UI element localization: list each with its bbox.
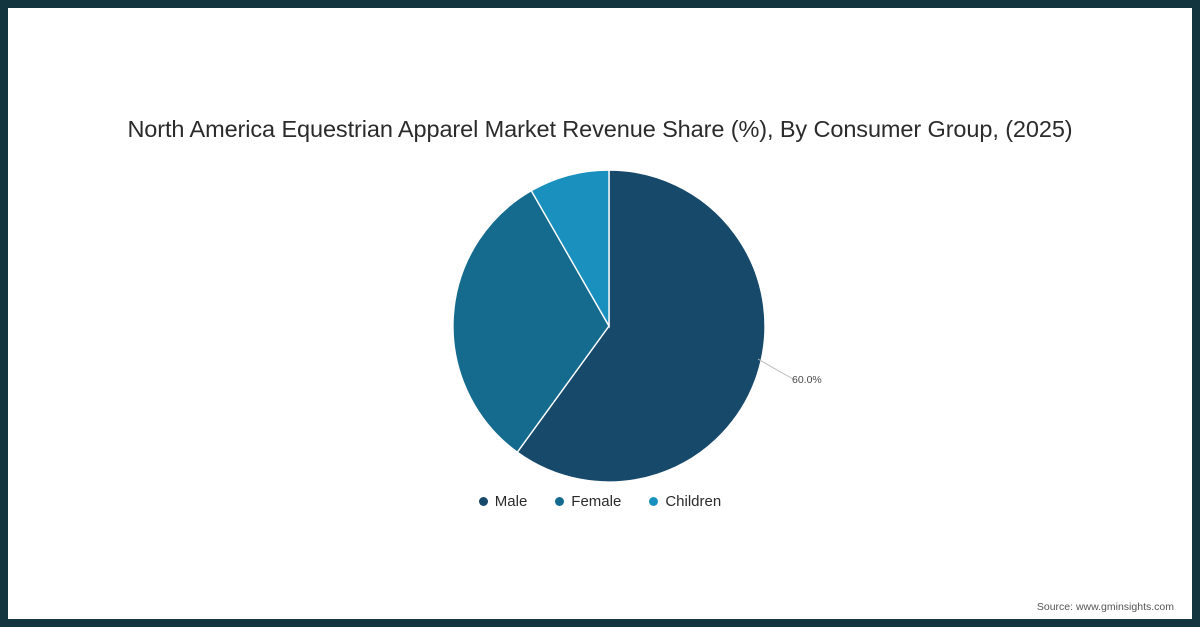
legend-swatch-children bbox=[649, 497, 658, 506]
legend-label-male: Male bbox=[495, 494, 528, 509]
pie-data-label-male: 60.0% bbox=[792, 374, 822, 386]
chart-canvas: North America Equestrian Apparel Market … bbox=[8, 8, 1192, 619]
pie-chart bbox=[445, 162, 773, 490]
legend-label-female: Female bbox=[571, 494, 621, 509]
legend-swatch-male bbox=[479, 497, 488, 506]
pie-leader-line bbox=[758, 359, 795, 380]
legend-item-male[interactable]: Male bbox=[479, 494, 528, 509]
chart-legend: Male Female Children bbox=[8, 494, 1192, 509]
legend-label-children: Children bbox=[665, 494, 721, 509]
legend-swatch-female bbox=[555, 497, 564, 506]
pie-slices bbox=[453, 170, 765, 482]
source-attribution: Source: www.gminsights.com bbox=[1037, 601, 1174, 613]
pie-svg bbox=[445, 162, 773, 490]
chart-title: North America Equestrian Apparel Market … bbox=[8, 116, 1192, 143]
chart-screenshot: North America Equestrian Apparel Market … bbox=[0, 0, 1200, 627]
legend-item-female[interactable]: Female bbox=[555, 494, 621, 509]
legend-item-children[interactable]: Children bbox=[649, 494, 721, 509]
